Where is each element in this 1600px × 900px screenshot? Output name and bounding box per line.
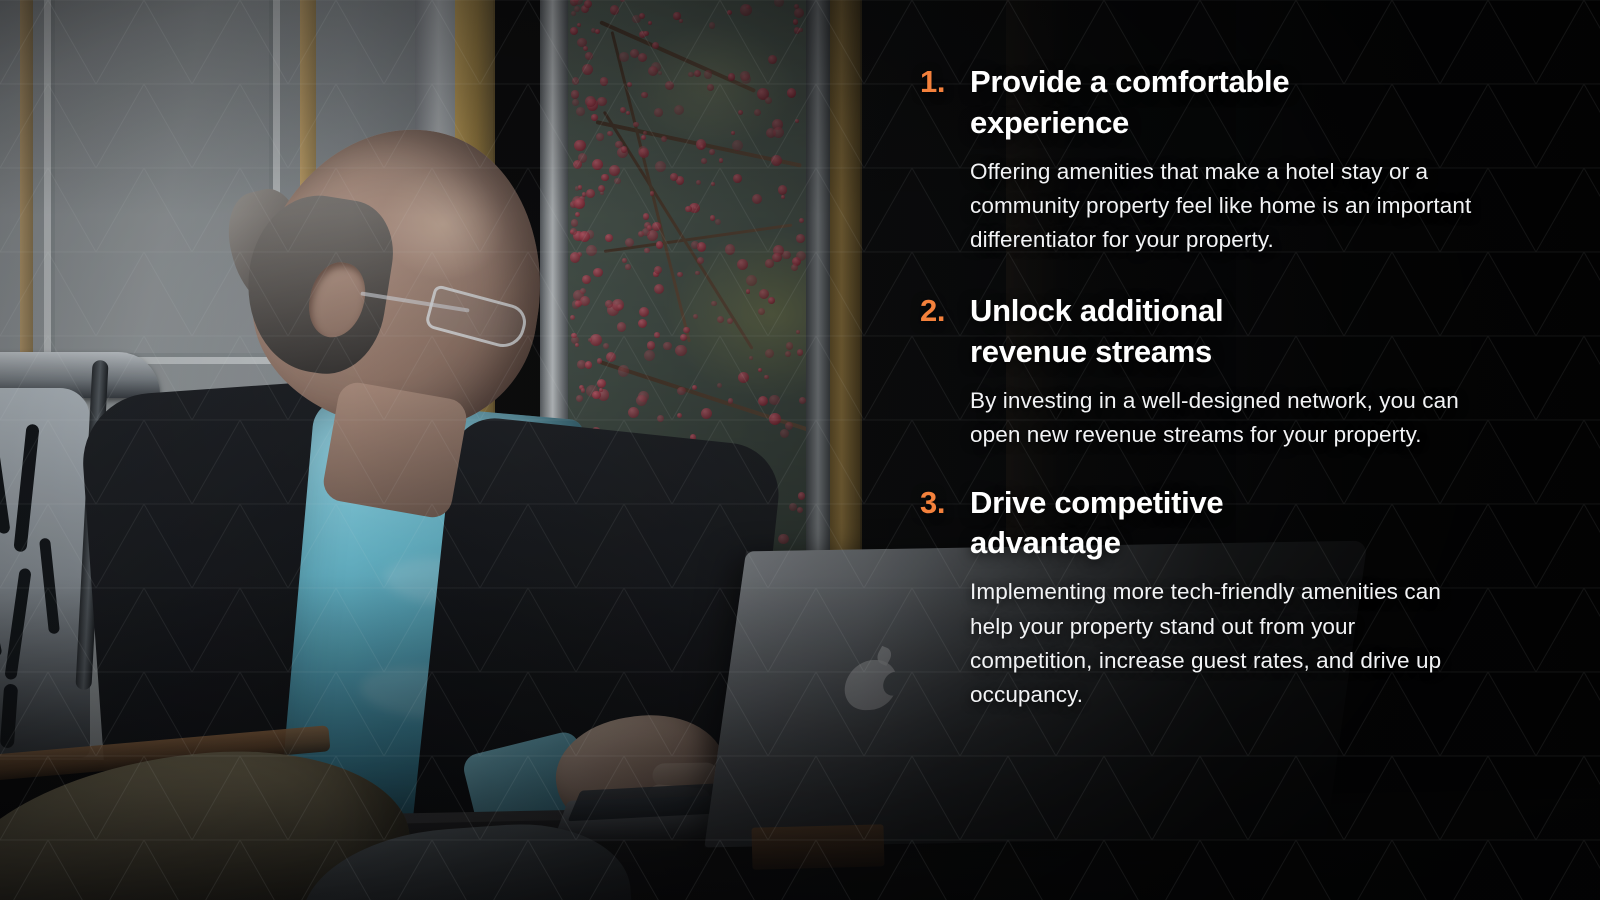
list-item-number: 3. [920,483,958,523]
list-item-title: Unlock additional revenue streams [970,291,1300,373]
list-item: 3. Drive competitive advantage Implement… [920,483,1520,713]
list-item-body: Implementing more tech-friendly amenitie… [970,575,1476,712]
list-item-heading: 3. Drive competitive advantage [920,483,1520,565]
list-item-body: By investing in a well-designed network,… [970,384,1476,452]
list-item: 1. Provide a comfortable experience Offe… [920,62,1520,257]
slide-root: 1. Provide a comfortable experience Offe… [0,0,1600,900]
numbered-benefits-list: 1. Provide a comfortable experience Offe… [920,0,1520,900]
list-item-body: Offering amenities that make a hotel sta… [970,155,1476,258]
list-item: 2. Unlock additional revenue streams By … [920,291,1520,452]
list-item-number: 2. [920,291,958,331]
list-item-heading: 2. Unlock additional revenue streams [920,291,1520,373]
list-item-heading: 1. Provide a comfortable experience [920,62,1520,144]
list-item-title: Drive competitive advantage [970,483,1310,565]
list-item-number: 1. [920,62,958,102]
list-item-title: Provide a comfortable experience [970,62,1390,144]
